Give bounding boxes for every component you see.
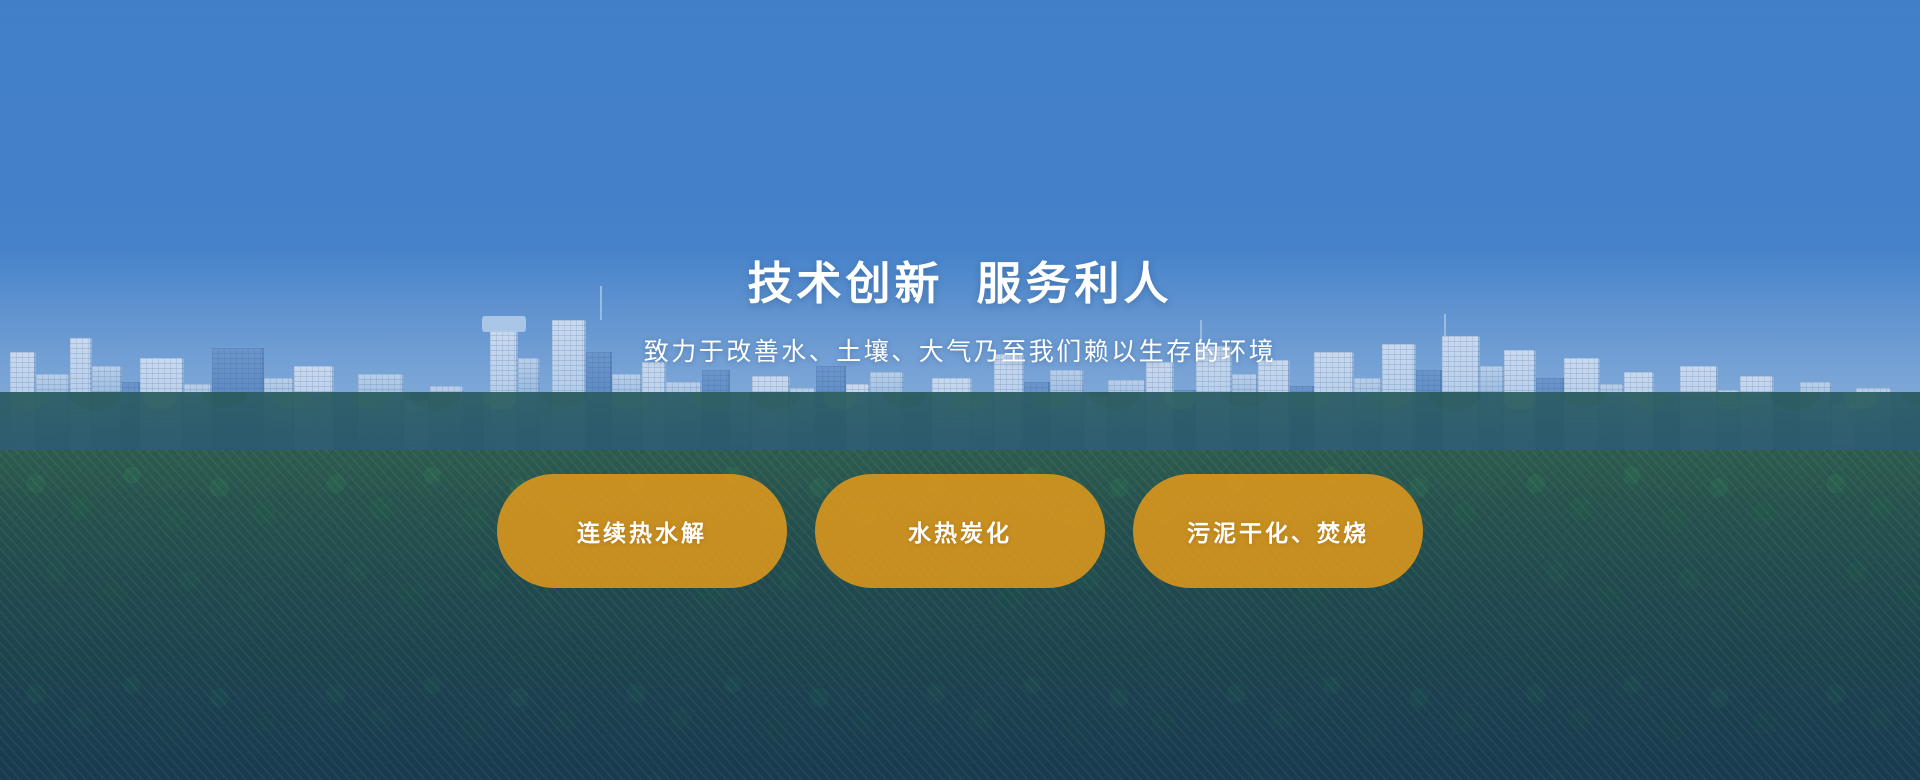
hero-banner: 技术创新 服务利人 致力于改善水、土壤、大气乃至我们赖以生存的环境 连续热水解 … <box>0 0 1920 780</box>
cta-button-sludge-drying-incineration[interactable]: 污泥干化、焚烧 <box>1133 474 1423 588</box>
cta-label: 污泥干化、焚烧 <box>1187 514 1369 548</box>
cta-label: 连续热水解 <box>577 514 707 548</box>
cta-button-row: 连续热水解 水热炭化 污泥干化、焚烧 <box>0 474 1920 588</box>
hero-copy: 技术创新 服务利人 致力于改善水、土壤、大气乃至我们赖以生存的环境 <box>0 258 1920 368</box>
cta-label: 水热炭化 <box>908 514 1012 548</box>
cta-button-hydrothermal-carbonization[interactable]: 水热炭化 <box>815 474 1105 588</box>
page-subtitle: 致力于改善水、土壤、大气乃至我们赖以生存的环境 <box>0 332 1920 368</box>
page-title: 技术创新 服务利人 <box>0 258 1920 310</box>
cta-button-continuous-thermal-hydrolysis[interactable]: 连续热水解 <box>497 474 787 588</box>
